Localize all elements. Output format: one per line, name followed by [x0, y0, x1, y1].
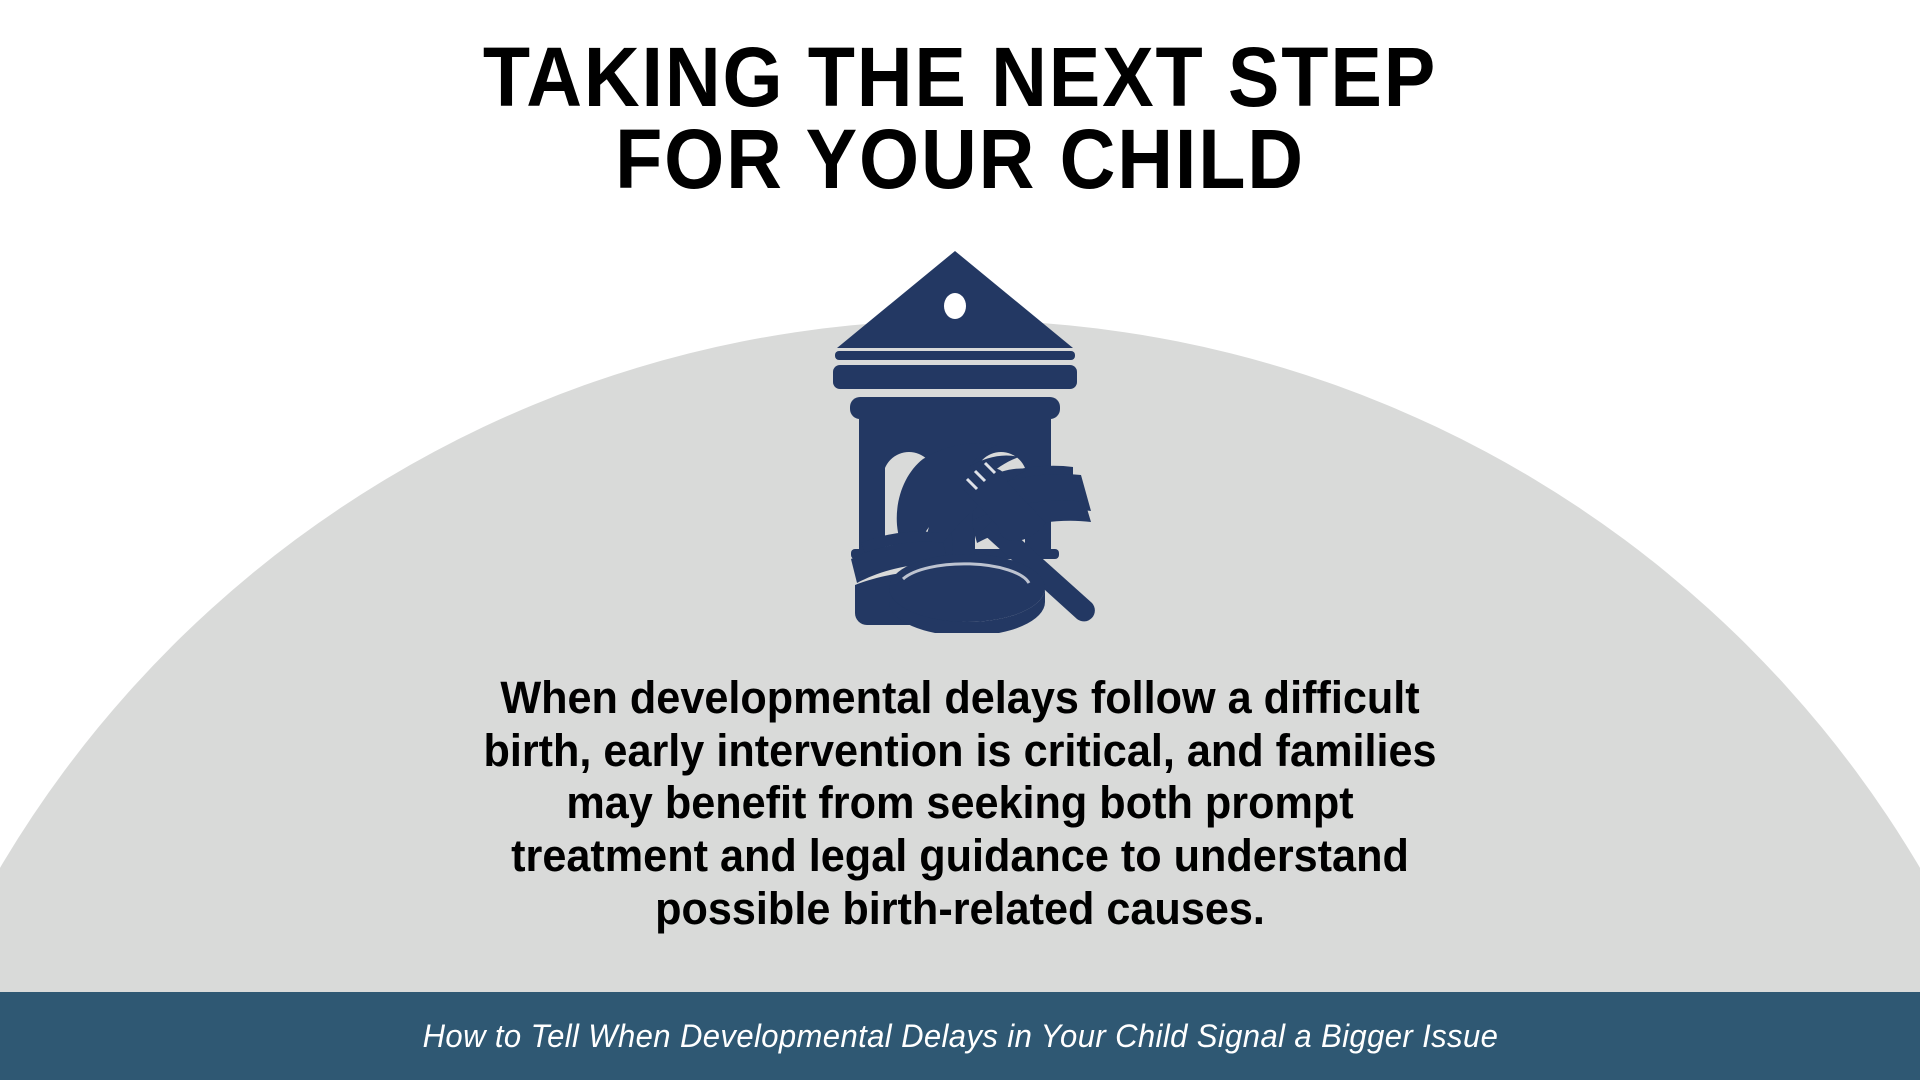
- slide-canvas: TAKING THE NEXT STEP FOR YOUR CHILD: [0, 0, 1920, 1080]
- title-line-2: FOR YOUR CHILD: [77, 118, 1843, 200]
- pediment-oculus: [944, 293, 966, 319]
- body-line-1: When developmental delays follow a diffi…: [346, 672, 1575, 725]
- courthouse-gavel-quill-book-icon: [755, 243, 1155, 633]
- page-title: TAKING THE NEXT STEP FOR YOUR CHILD: [0, 36, 1920, 201]
- footer-banner-text: How to Tell When Developmental Delays in…: [422, 1018, 1498, 1055]
- body-line-4: treatment and legal guidance to understa…: [346, 830, 1575, 883]
- body-line-5: possible birth-related causes.: [346, 883, 1575, 936]
- body-paragraph: When developmental delays follow a diffi…: [320, 672, 1600, 935]
- footer-banner: How to Tell When Developmental Delays in…: [0, 992, 1920, 1080]
- architrave-bar: [835, 351, 1075, 360]
- column-shaft-left: [859, 419, 885, 557]
- cornice-band: [850, 397, 1060, 419]
- body-line-3: may benefit from seeking both prompt: [346, 777, 1575, 830]
- entablature-band: [833, 365, 1077, 389]
- title-line-1: TAKING THE NEXT STEP: [77, 36, 1843, 118]
- body-line-2: birth, early intervention is critical, a…: [346, 725, 1575, 778]
